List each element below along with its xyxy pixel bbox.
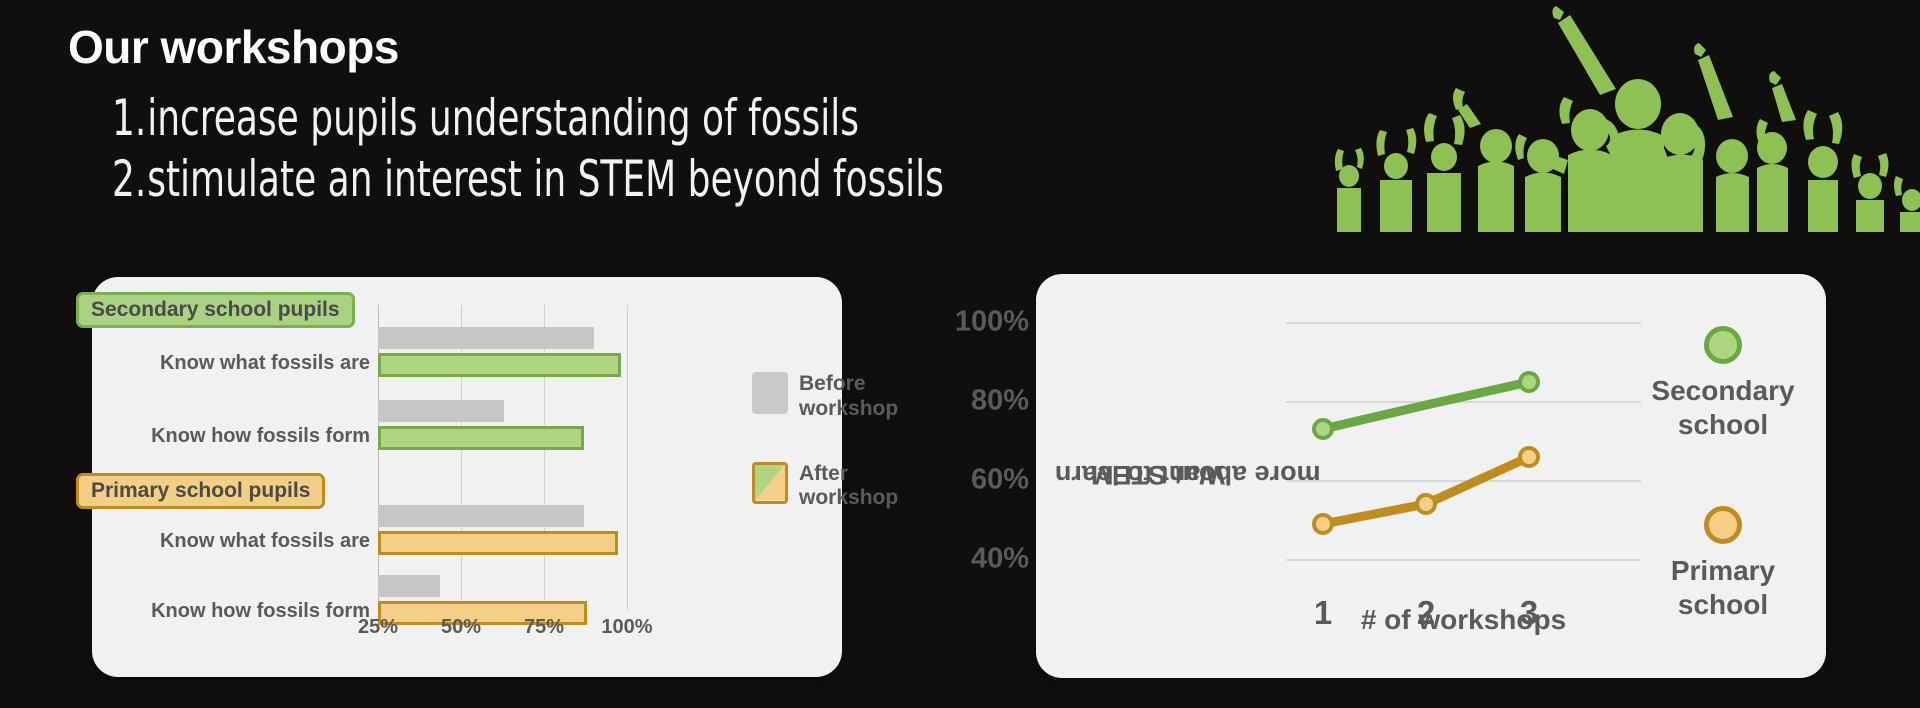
list-item-label: increase pupils understanding of fossils (147, 88, 859, 149)
category-label: Know how fossils form (92, 425, 370, 448)
legend-item-secondary: Secondary school (1648, 326, 1798, 441)
legend-label: After workshop (799, 462, 898, 512)
data-point-primary-3 (1518, 446, 1540, 468)
y-tick-label: 40% (971, 543, 1029, 576)
primary-marker-icon (1704, 506, 1742, 544)
legend-label: Before workshop (799, 372, 898, 422)
slide-root: Our workshops 1. increase pupils underst… (0, 0, 1920, 708)
gridline-50 (461, 305, 462, 610)
data-point-primary-1 (1312, 513, 1334, 535)
bar-after-secondary-how (378, 426, 584, 450)
x-tick-label: 75% (524, 616, 564, 639)
bar-before-primary-what (378, 505, 584, 527)
legend-label: Primary school (1648, 554, 1798, 621)
bar-chart-legend: Before workshop After workshop (752, 372, 882, 551)
line-chart-card: Want to learn more about STEM 100% 80% 6… (1036, 274, 1826, 678)
x-axis-title: # of workshops (1286, 604, 1641, 636)
category-label: Know how fossils form (92, 600, 370, 623)
legend-item-after: After workshop (752, 462, 882, 512)
list-item: 1. increase pupils understanding of foss… (112, 88, 944, 149)
gridline-100 (627, 305, 628, 610)
line-plot-area: 100% 80% 60% 40% 1 2 3 (1286, 322, 1641, 587)
bar-before-primary-how (378, 575, 440, 597)
legend-label-line2: school (1678, 589, 1768, 620)
y-tick-label: 100% (955, 306, 1029, 339)
objectives-list: 1. increase pupils understanding of foss… (112, 88, 1152, 210)
y-tick-label: 60% (971, 464, 1029, 497)
page-title: Our workshops (68, 20, 399, 74)
legend-label: Secondary school (1648, 374, 1798, 441)
x-tick-label: 50% (441, 616, 481, 639)
y-axis-title: Want to learn more about STEM (1058, 324, 1288, 624)
data-point-secondary-3 (1518, 371, 1540, 393)
bar-after-primary-what (378, 531, 618, 555)
after-swatch-icon (752, 462, 788, 504)
gridline-75 (544, 305, 545, 610)
category-label: Know what fossils are (92, 530, 370, 553)
bar-plot-area: 25% 50% 75% 100% (378, 305, 678, 610)
series-line-secondary (1323, 382, 1529, 429)
before-swatch-icon (752, 372, 788, 414)
y-tick-label: 80% (971, 385, 1029, 418)
legend-item-before: Before workshop (752, 372, 882, 422)
data-point-primary-2 (1415, 493, 1437, 515)
category-label-column: Know what fossils are Know how fossils f… (92, 277, 370, 677)
legend-label-line1: Primary (1671, 555, 1775, 586)
legend-label-line2: school (1678, 409, 1768, 440)
bar-before-secondary-how (378, 400, 504, 422)
list-item-label: stimulate an interest in STEM beyond fos… (147, 149, 944, 210)
list-item-number: 1. (112, 88, 147, 149)
category-label: Know what fossils are (92, 352, 370, 375)
list-item-number: 2. (112, 149, 147, 210)
legend-label-line1: Secondary (1651, 375, 1794, 406)
list-item: 2. stimulate an interest in STEM beyond … (112, 149, 944, 210)
bar-chart-card: Secondary school pupils Primary school p… (92, 277, 842, 677)
cheering-crowd-icon (1320, 0, 1920, 232)
data-point-secondary-1 (1312, 418, 1334, 440)
line-series-svg (1286, 322, 1641, 587)
bar-after-secondary-what (378, 353, 621, 377)
bar-before-secondary-what (378, 327, 594, 349)
x-tick-label: 25% (358, 616, 398, 639)
legend-item-primary: Primary school (1648, 506, 1798, 621)
secondary-marker-icon (1704, 326, 1742, 364)
x-tick-label: 100% (601, 616, 652, 639)
axis-baseline (378, 305, 379, 610)
